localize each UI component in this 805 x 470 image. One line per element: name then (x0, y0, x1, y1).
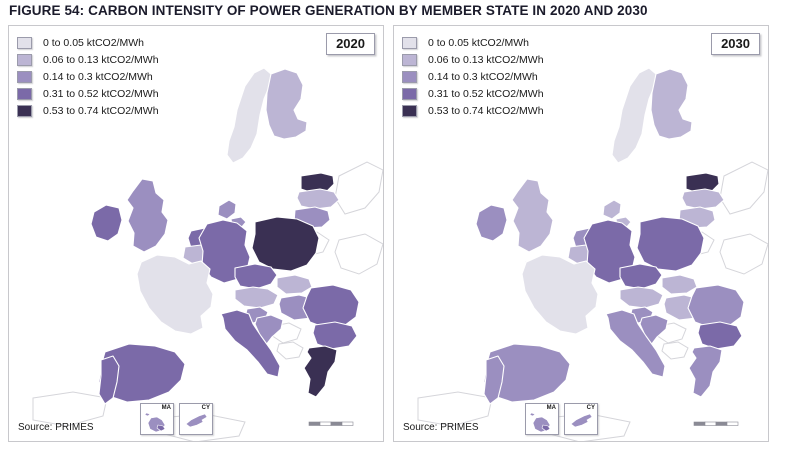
scale-bar (309, 422, 353, 426)
legend-label-4: 0.31 to 0.52 ktCO2/MWh (428, 88, 544, 100)
malta-shape (145, 413, 165, 432)
legend-label-5: 0.53 to 0.74 ktCO2/MWh (43, 105, 159, 117)
legend-item: 0.14 to 0.3 ktCO2/MWh (17, 68, 159, 85)
country-fr (522, 250, 598, 334)
inset-code-cyprus: CY (202, 405, 210, 411)
country-bg (313, 322, 357, 349)
inset-code-malta: MA (162, 405, 171, 411)
non-member-landmass (277, 342, 303, 359)
legend-item: 0 to 0.05 ktCO2/MWh (402, 34, 544, 51)
country-ro (303, 285, 359, 328)
figure-page: FIGURE 54: CARBON INTENSITY OF POWER GEN… (0, 0, 805, 470)
country-at (620, 287, 663, 308)
country-sk (662, 275, 697, 294)
year-badge-2020: 2020 (326, 33, 375, 55)
country-cz (620, 264, 662, 289)
country-uk (512, 179, 553, 252)
legend-item: 0.31 to 0.52 ktCO2/MWh (17, 85, 159, 102)
inset-boxes-2020: MA CY (140, 403, 213, 435)
legend-2020: 0 to 0.05 ktCO2/MWh 0.06 to 0.13 ktCO2/M… (17, 34, 159, 119)
inset-malta: MA (525, 403, 559, 435)
country-uk (127, 179, 168, 252)
non-member-landmass (662, 342, 688, 359)
malta-shape (530, 413, 550, 432)
legend-label-3: 0.14 to 0.3 ktCO2/MWh (428, 71, 538, 83)
country-at (235, 287, 278, 308)
source-note-2030: Source: PRIMES (403, 422, 479, 433)
country-ie (91, 205, 122, 241)
legend-label-2: 0.06 to 0.13 ktCO2/MWh (428, 54, 544, 66)
country-sk (277, 275, 312, 294)
non-member-landmass (720, 162, 768, 214)
non-member-landmass (33, 392, 107, 426)
legend-swatch-1 (17, 37, 32, 49)
map-panels: 0 to 0.05 ktCO2/MWh 0.06 to 0.13 ktCO2/M… (8, 25, 797, 444)
legend-2030: 0 to 0.05 ktCO2/MWh 0.06 to 0.13 ktCO2/M… (402, 34, 544, 119)
legend-swatch-4 (402, 88, 417, 100)
country-fi (651, 69, 692, 139)
country-lv (682, 189, 724, 209)
legend-label-3: 0.14 to 0.3 ktCO2/MWh (43, 71, 153, 83)
non-member-landmass (335, 234, 383, 274)
legend-swatch-4 (17, 88, 32, 100)
legend-label-5: 0.53 to 0.74 ktCO2/MWh (428, 105, 544, 117)
year-badge-2030: 2030 (711, 33, 760, 55)
legend-swatch-1 (402, 37, 417, 49)
inset-cyprus: CY (179, 403, 213, 435)
inset-malta: MA (140, 403, 174, 435)
country-gr (304, 346, 337, 397)
legend-label-4: 0.31 to 0.52 ktCO2/MWh (43, 88, 159, 100)
legend-item: 0 to 0.05 ktCO2/MWh (17, 34, 159, 51)
map-panel-2030: 0 to 0.05 ktCO2/MWh 0.06 to 0.13 ktCO2/M… (393, 25, 769, 442)
country-gr (689, 346, 722, 397)
legend-swatch-3 (17, 71, 32, 83)
inset-code-cyprus: CY (587, 405, 595, 411)
inset-cyprus: CY (564, 403, 598, 435)
cyprus-shape (571, 414, 592, 427)
non-member-landmass (418, 392, 492, 426)
legend-swatch-5 (17, 105, 32, 117)
country-bg (698, 322, 742, 349)
map-panel-2020: 0 to 0.05 ktCO2/MWh 0.06 to 0.13 ktCO2/M… (8, 25, 384, 442)
country-pl (252, 217, 319, 271)
legend-item: 0.06 to 0.13 ktCO2/MWh (402, 51, 544, 68)
legend-swatch-5 (402, 105, 417, 117)
legend-swatch-3 (402, 71, 417, 83)
legend-item: 0.53 to 0.74 ktCO2/MWh (17, 102, 159, 119)
scale-bar (694, 422, 738, 426)
page-title: FIGURE 54: CARBON INTENSITY OF POWER GEN… (9, 3, 648, 18)
non-member-landmass (335, 162, 383, 214)
legend-label-1: 0 to 0.05 ktCO2/MWh (428, 37, 529, 49)
country-ie (476, 205, 507, 241)
legend-label-1: 0 to 0.05 ktCO2/MWh (43, 37, 144, 49)
non-member-landmass (720, 234, 768, 274)
country-lv (297, 189, 339, 209)
country-pl (637, 217, 704, 271)
legend-item: 0.06 to 0.13 ktCO2/MWh (17, 51, 159, 68)
source-note-2020: Source: PRIMES (18, 422, 94, 433)
legend-swatch-2 (17, 54, 32, 66)
legend-swatch-2 (402, 54, 417, 66)
country-is (452, 116, 478, 136)
legend-item: 0.14 to 0.3 ktCO2/MWh (402, 68, 544, 85)
country-fi (266, 69, 307, 139)
inset-boxes-2030: MA CY (525, 403, 598, 435)
country-is (67, 116, 93, 136)
figure-title-text: FIGURE 54: CARBON INTENSITY OF POWER GEN… (9, 3, 648, 18)
legend-label-2: 0.06 to 0.13 ktCO2/MWh (43, 54, 159, 66)
country-ro (688, 285, 744, 328)
legend-item: 0.53 to 0.74 ktCO2/MWh (402, 102, 544, 119)
country-cz (235, 264, 277, 289)
legend-item: 0.31 to 0.52 ktCO2/MWh (402, 85, 544, 102)
inset-code-malta: MA (547, 405, 556, 411)
cyprus-shape (186, 414, 207, 427)
country-fr (137, 250, 213, 334)
